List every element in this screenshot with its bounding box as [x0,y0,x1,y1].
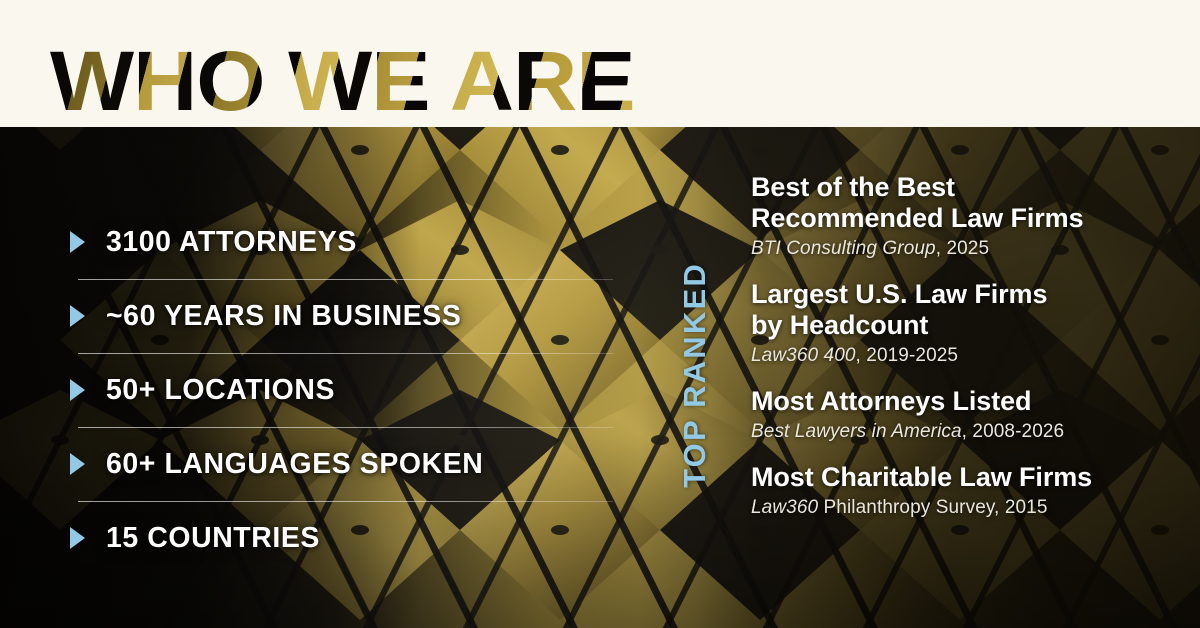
list-item: Best of the Best Recommended Law Firms B… [751,172,1161,261]
header-band: WHO WE ARE [0,0,1200,127]
award-title-line-2: by Headcount [751,310,928,340]
triangle-right-icon [70,231,85,253]
award-title: Best of the Best Recommended Law Firms [751,172,1161,234]
page-title: WHO WE ARE [50,35,686,127]
award-source: BTI Consulting Group, 2025 [751,237,1161,261]
firm-stats-list: 3100 ATTORNEYS ~60 YEARS IN BUSINESS 50+… [70,205,630,575]
award-title-line-2: Recommended Law Firms [751,203,1084,233]
list-item: Largest U.S. Law Firms by Headcount Law3… [751,279,1161,368]
award-title: Largest U.S. Law Firms by Headcount [751,279,1161,341]
award-title-line-1: Best of the Best [751,172,955,202]
award-years: , 2025 [936,238,989,259]
award-source: Best Lawyers in America, 2008-2026 [751,420,1161,444]
awards-list: Best of the Best Recommended Law Firms B… [751,172,1161,520]
page-title-wrap: WHO WE ARE [50,35,650,127]
list-item: 15 COUNTRIES [70,501,630,575]
award-years: , 2019-2025 [856,345,959,366]
list-item: Most Charitable Law Firms Law360 Philant… [751,462,1161,520]
stat-label: 3100 ATTORNEYS [106,226,357,259]
stat-label: 60+ LANGUAGES SPOKEN [106,448,483,481]
stat-label: ~60 YEARS IN BUSINESS [106,300,461,333]
triangle-right-icon [70,305,85,327]
triangle-right-icon [70,453,85,475]
who-we-are-banner: WHO WE ARE 3100 ATTORNEYS ~60 YEARS IN B… [0,0,1200,628]
award-title-line-1: Largest U.S. Law Firms [751,279,1047,309]
list-item: 50+ LOCATIONS [70,353,630,427]
triangle-right-icon [70,379,85,401]
stat-label: 50+ LOCATIONS [106,374,335,407]
award-publication: Law360 [751,497,818,518]
award-title: Most Attorneys Listed [751,386,1161,417]
list-item: ~60 YEARS IN BUSINESS [70,279,630,353]
award-publication: Law360 400 [751,345,856,366]
award-publication: BTI Consulting Group [751,238,936,259]
award-title-line-1: Most Charitable Law Firms [751,462,1092,492]
top-ranked-label: TOP RANKED [677,262,713,488]
list-item: 60+ LANGUAGES SPOKEN [70,427,630,501]
award-publication: Best Lawyers in America [751,421,962,442]
list-item: Most Attorneys Listed Best Lawyers in Am… [751,386,1161,444]
list-item: 3100 ATTORNEYS [70,205,630,279]
award-years: Philanthropy Survey, 2015 [818,497,1047,518]
top-ranked-vertical-label: TOP RANKED [673,230,717,520]
award-source: Law360 400, 2019-2025 [751,344,1161,368]
award-title-line-1: Most Attorneys Listed [751,386,1031,416]
award-source: Law360 Philanthropy Survey, 2015 [751,496,1161,520]
award-years: , 2008-2026 [962,421,1065,442]
award-title: Most Charitable Law Firms [751,462,1161,493]
triangle-right-icon [70,527,85,549]
stat-label: 15 COUNTRIES [106,522,320,555]
